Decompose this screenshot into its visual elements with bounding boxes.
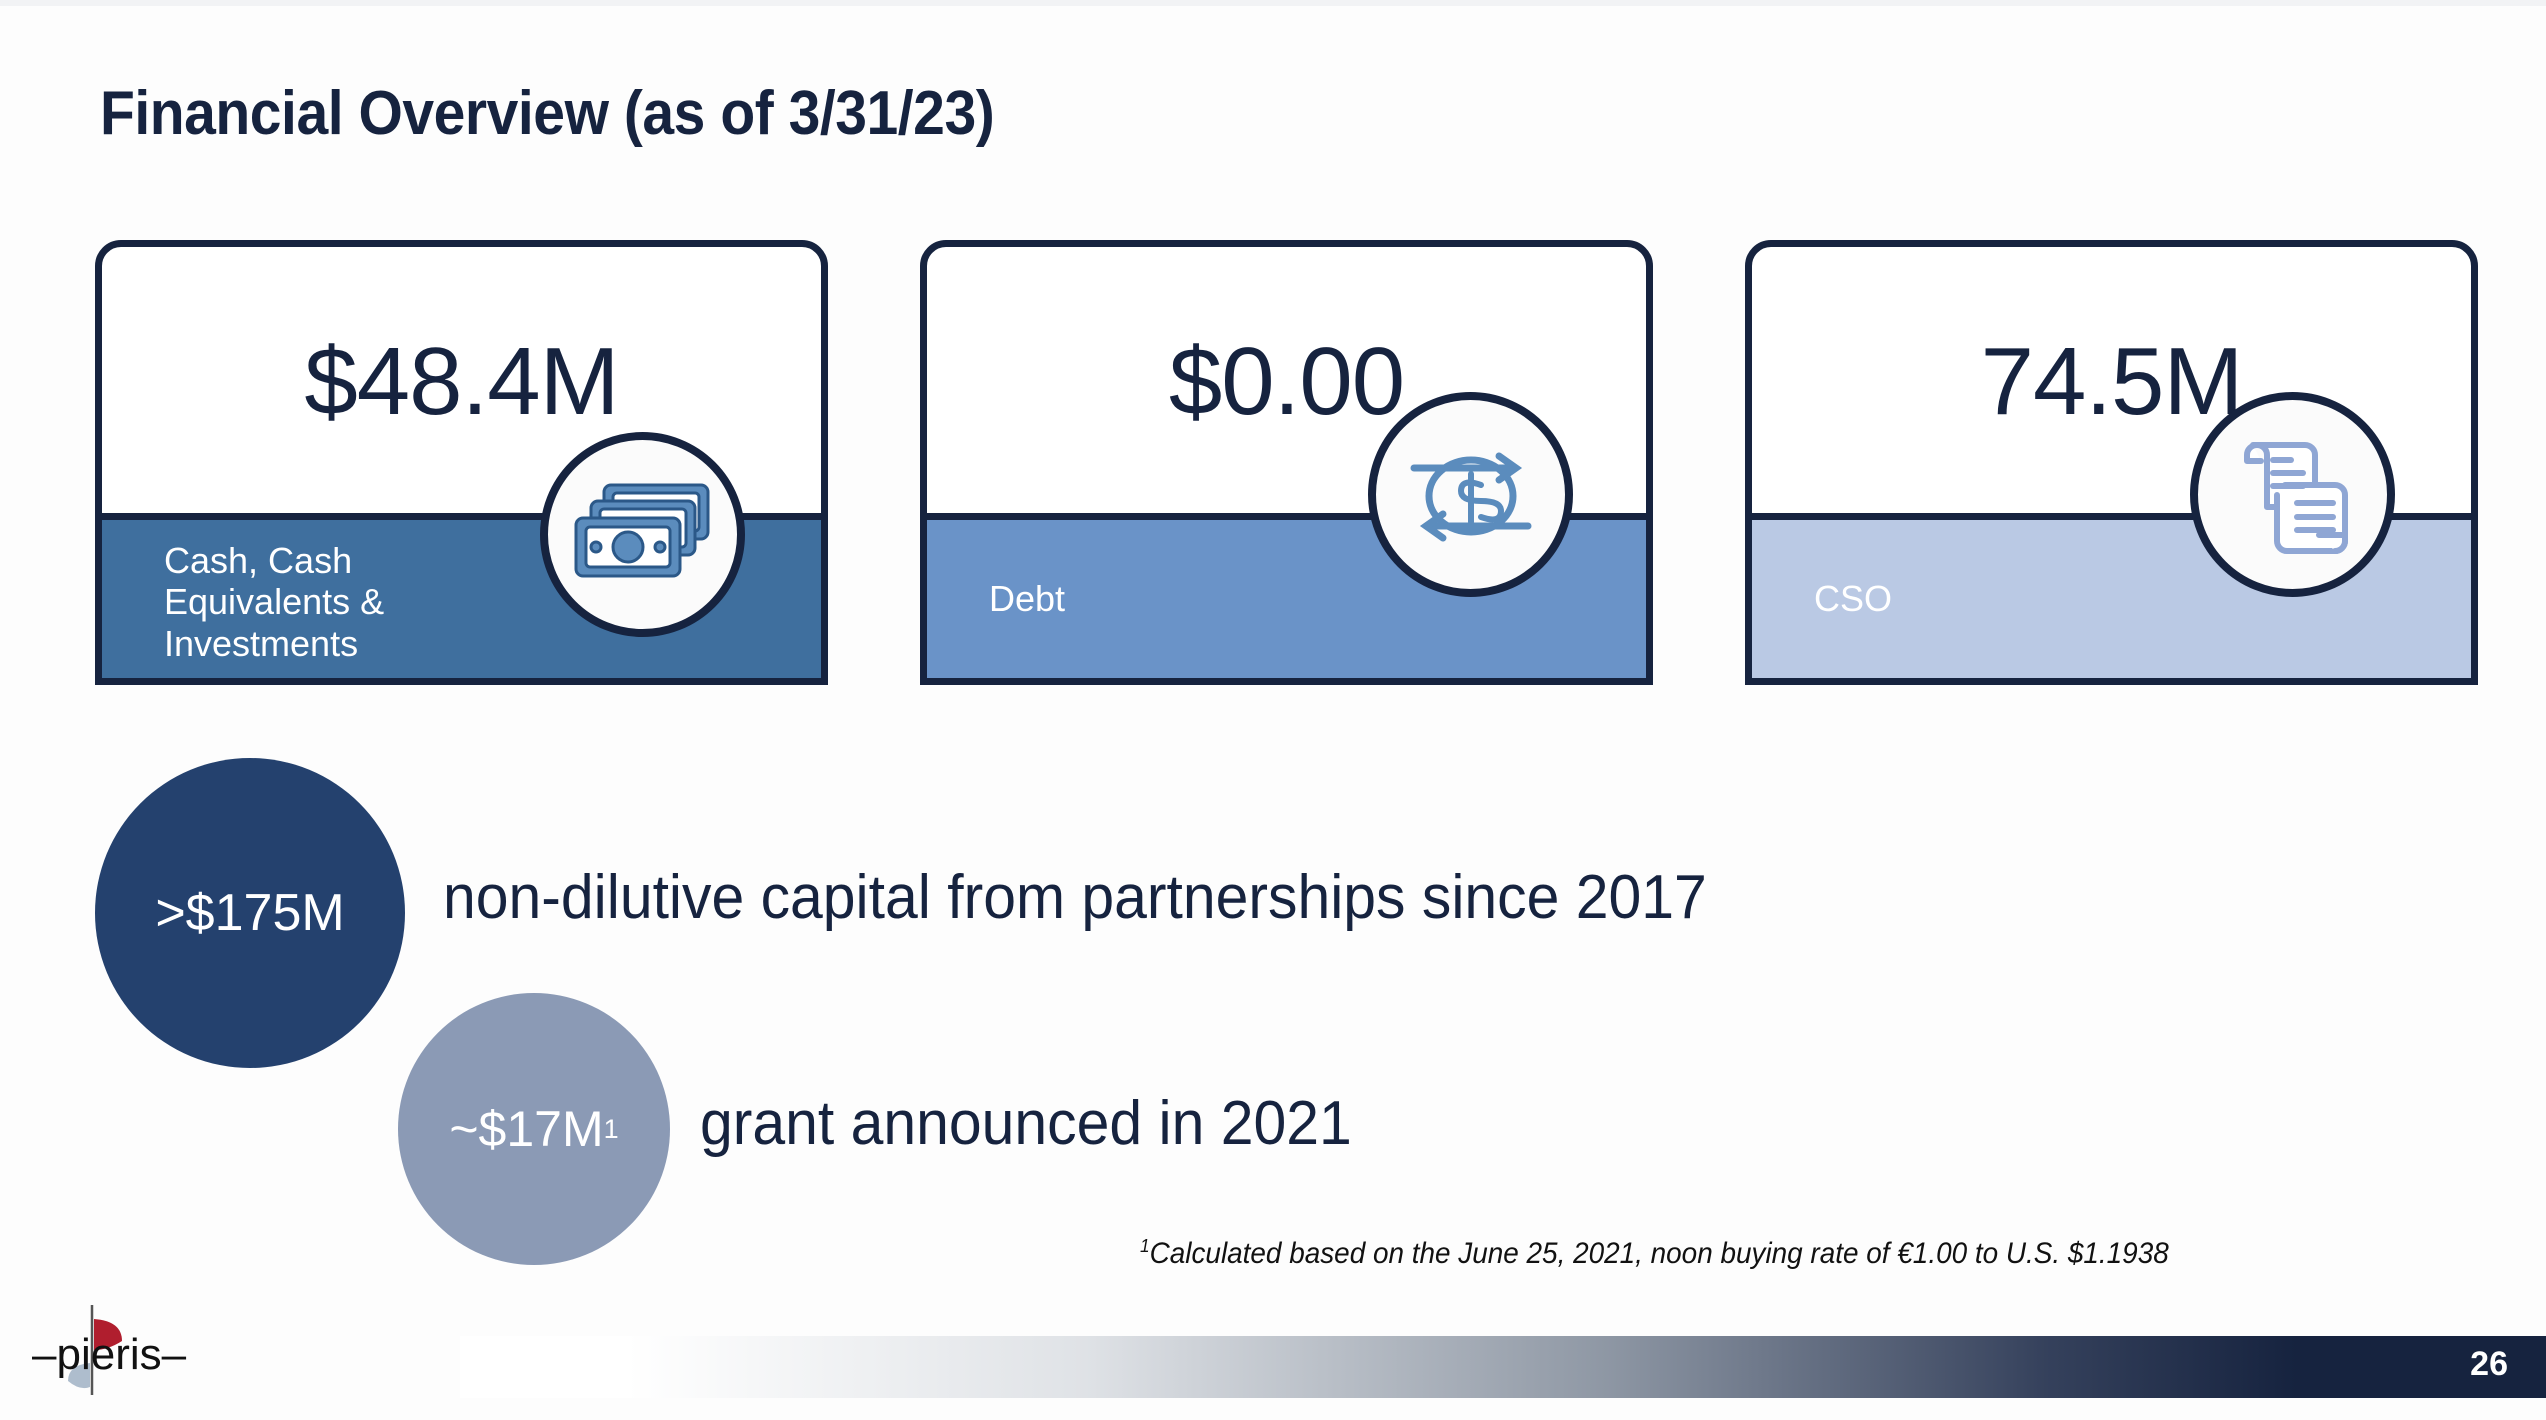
bottom-gradient-bar bbox=[460, 1336, 2546, 1398]
kpi-label: CSO bbox=[1752, 578, 1892, 619]
kpi-value: $48.4M bbox=[102, 327, 821, 437]
document-scroll-icon bbox=[2190, 392, 2395, 597]
footnote-text: Calculated based on the June 25, 2021, n… bbox=[1150, 1237, 2169, 1270]
slide-canvas: Financial Overview (as of 3/31/23) $48.4… bbox=[0, 0, 2546, 1420]
page-number: 26 bbox=[2470, 1345, 2508, 1384]
highlight-text-partnerships: non-dilutive capital from partnerships s… bbox=[443, 862, 1707, 933]
page-title: Financial Overview (as of 3/31/23) bbox=[100, 78, 994, 149]
kpi-label: Cash, Cash Equivalents & Investments bbox=[102, 540, 384, 663]
svg-text:–pieris–: –pieris– bbox=[32, 1330, 187, 1379]
highlight-badge-175m: >$175M bbox=[95, 758, 405, 1068]
top-strip bbox=[0, 0, 2546, 6]
banknotes-icon bbox=[540, 432, 745, 637]
footnote: 1Calculated based on the June 25, 2021, … bbox=[1140, 1237, 2169, 1271]
kpi-card-cash: $48.4M Cash, Cash Equivalents & Investme… bbox=[95, 240, 828, 685]
footnote-marker: 1 bbox=[1140, 1235, 1150, 1256]
highlight-badge-17m: ~$17M1 bbox=[398, 993, 670, 1265]
kpi-label: Debt bbox=[927, 578, 1065, 619]
highlight-badge-label: ~$17M bbox=[449, 1100, 603, 1158]
money-circulation-icon bbox=[1368, 392, 1573, 597]
highlight-badge-label: >$175M bbox=[155, 883, 344, 943]
highlight-text-grant: grant announced in 2021 bbox=[700, 1088, 1352, 1159]
pieris-logo: –pieris– bbox=[28, 1297, 238, 1402]
